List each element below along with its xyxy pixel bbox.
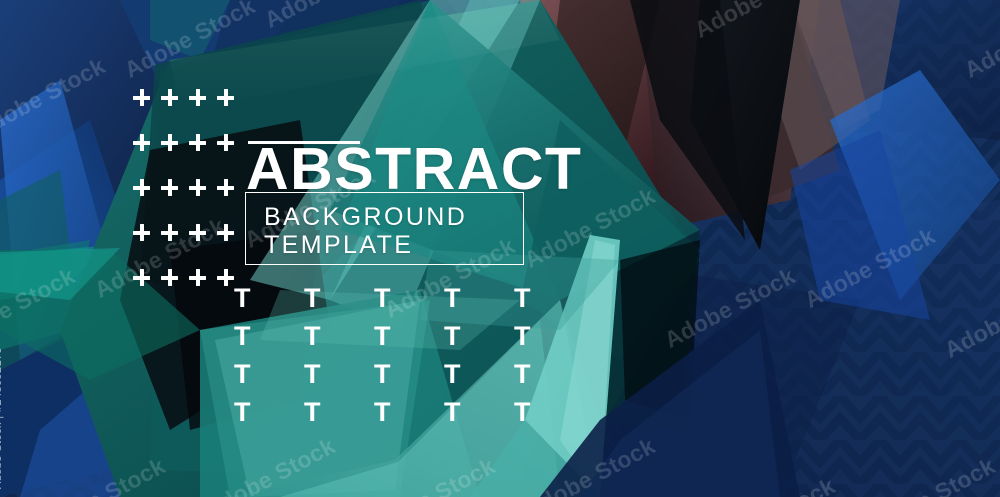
t-glyph: T <box>374 285 391 312</box>
plus-icon <box>133 179 150 196</box>
watermark-text: Adobe Stock <box>120 0 260 84</box>
t-glyph: T <box>444 361 461 388</box>
t-glyph: T <box>374 399 391 426</box>
plus-icon <box>161 224 178 241</box>
t-glyph: T <box>514 323 531 350</box>
t-glyph: T <box>444 285 461 312</box>
t-glyph: T <box>234 361 251 388</box>
t-glyph: T <box>234 323 251 350</box>
watermark-text: Adobe Stock <box>520 432 660 497</box>
plus-icon <box>133 269 150 286</box>
plus-icon <box>189 269 206 286</box>
t-glyph: T <box>374 323 391 350</box>
plus-icon <box>217 269 234 286</box>
watermark-text: Adobe Stock <box>800 222 940 313</box>
plus-icon <box>189 134 206 151</box>
t-glyph: T <box>234 285 251 312</box>
plus-icon <box>189 179 206 196</box>
abstract-background-poster: Adobe StockAdobe StockAdobe StockAdobe S… <box>0 0 1000 497</box>
page-subtitle: BACKGROUND TEMPLATE <box>264 203 524 259</box>
plus-icon <box>133 89 150 106</box>
t-glyph: T <box>444 399 461 426</box>
watermark-text: Adobe Stock <box>940 272 1000 363</box>
watermark-text: Adobe Stock <box>700 472 840 497</box>
watermark-text: Adobe Stock <box>660 262 800 353</box>
t-glyph: T <box>304 399 321 426</box>
watermark-text: Adobe Stock <box>200 432 340 497</box>
t-glyph: T <box>514 285 531 312</box>
plus-icon <box>161 269 178 286</box>
watermark-text: Adobe Stock <box>690 0 830 44</box>
watermark-text: Adobe Stock <box>360 452 500 497</box>
plus-icon <box>161 134 178 151</box>
watermark-id-text: Adobe Stock | #248092179 <box>0 347 4 489</box>
watermark-text: Adobe Stock <box>260 0 400 34</box>
plus-icon <box>161 89 178 106</box>
watermark-text: Adobe Stock <box>30 452 170 497</box>
page-title: ABSTRACT <box>246 140 726 199</box>
plus-icon <box>217 179 234 196</box>
plus-icon <box>161 179 178 196</box>
t-glyph: T <box>514 399 531 426</box>
watermark-text: Adobe Stock <box>960 0 1000 84</box>
watermark-text: Adobe Stock <box>0 52 110 143</box>
plus-icon <box>217 89 234 106</box>
t-glyph: T <box>234 399 251 426</box>
plus-icon <box>133 224 150 241</box>
t-glyph: T <box>304 285 321 312</box>
watermark-text: Adobe Stock <box>0 262 80 353</box>
t-glyph: T <box>514 361 531 388</box>
t-glyph: T <box>304 361 321 388</box>
t-glyph: T <box>444 323 461 350</box>
plus-icon <box>217 134 234 151</box>
plus-icon <box>217 224 234 241</box>
plus-icon <box>133 134 150 151</box>
t-glyph: T <box>304 323 321 350</box>
t-glyph: T <box>374 361 391 388</box>
plus-icon <box>189 89 206 106</box>
watermark-text: Adobe Stock <box>90 212 230 303</box>
watermark-text: Adobe Stock <box>860 452 1000 497</box>
plus-icon <box>189 224 206 241</box>
